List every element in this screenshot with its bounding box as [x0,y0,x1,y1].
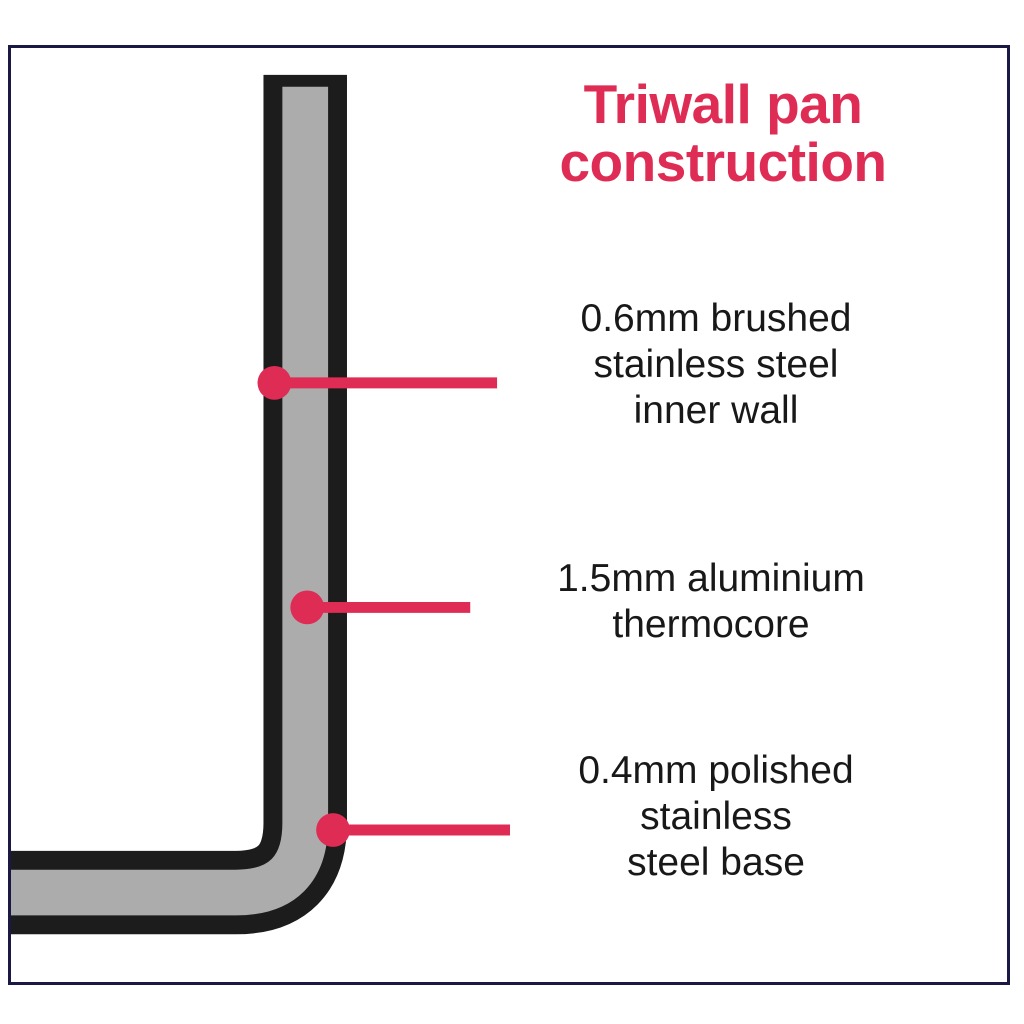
callout-label-steel-base: 0.4mm polished stainless steel base [481,748,951,886]
callout-3-line-3: steel base [481,840,951,886]
callout-label-inner-wall: 0.6mm brushed stainless steel inner wall [481,296,951,434]
callout-1-line-3: inner wall [481,388,951,434]
callout-2-line-2: thermocore [476,602,946,648]
diagram-title: Triwall pan construction [473,76,973,192]
steel-skin-outer-layer [11,78,305,893]
leader-dot-inner-wall [258,366,292,400]
leader-dot-thermocore [290,591,324,625]
callout-1-line-1: 0.6mm brushed [481,296,951,342]
aluminium-thermocore-layer [11,84,305,893]
title-line-2: construction [473,134,973,192]
callout-3-line-2: stainless [481,794,951,840]
callout-1-line-2: stainless steel [481,342,951,388]
leader-dot-steel-base [316,813,350,847]
diagram-canvas: Triwall pan construction 0.6mm brushed s… [0,0,1024,1024]
title-line-1: Triwall pan [473,76,973,134]
diagram-frame: Triwall pan construction 0.6mm brushed s… [8,45,1010,985]
callout-3-line-1: 0.4mm polished [481,748,951,794]
callout-label-thermocore: 1.5mm aluminium thermocore [476,556,946,648]
callout-2-line-1: 1.5mm aluminium [476,556,946,602]
